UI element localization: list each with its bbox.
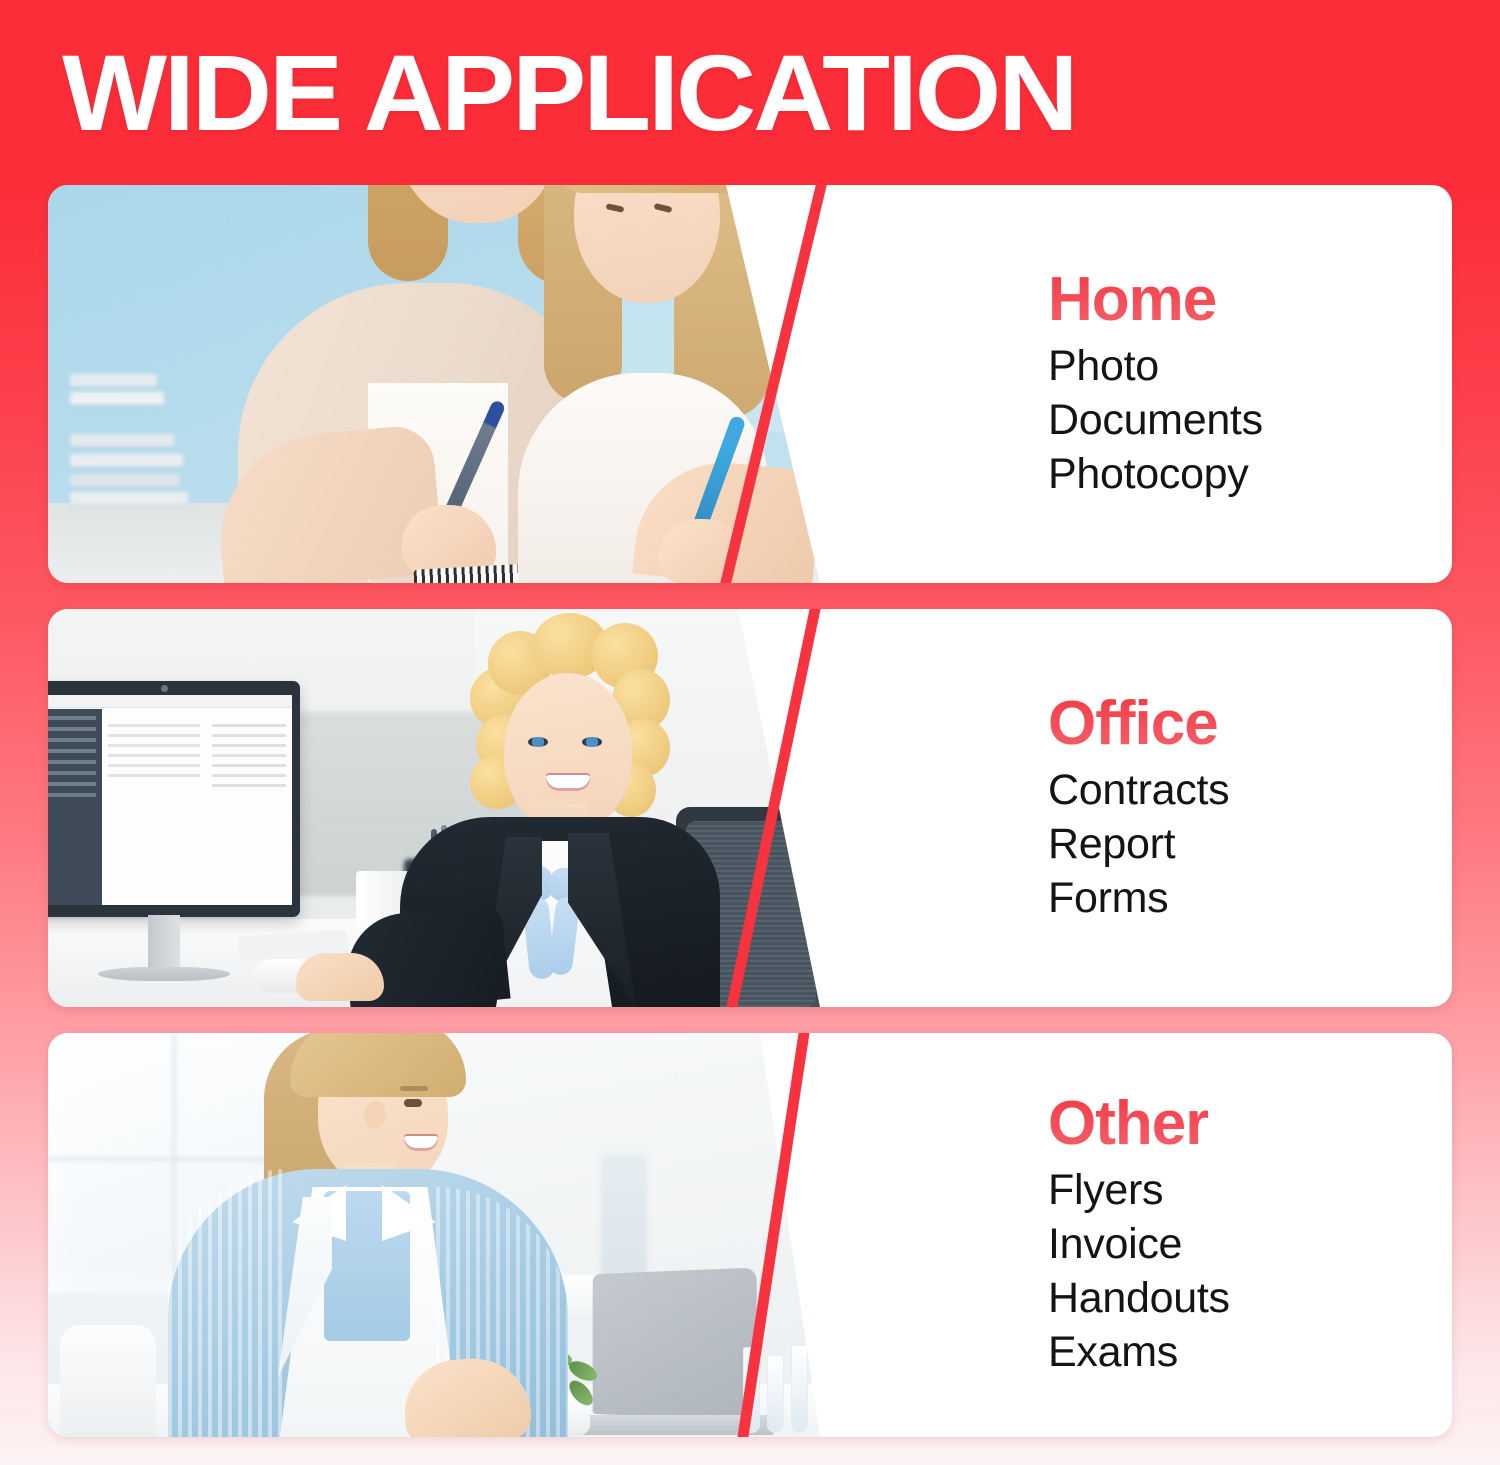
list-item: Contracts (1048, 764, 1452, 818)
page-title: WIDE APPLICATION (62, 39, 1075, 147)
card-title-office: Office (1048, 691, 1218, 757)
list-item: Forms (1048, 872, 1452, 926)
list-item: Report (1048, 818, 1452, 872)
list-item: Handouts (1048, 1272, 1452, 1326)
hand-on-mouse (296, 953, 384, 1001)
application-card-office[interactable]: Office Contracts Report Forms (48, 609, 1452, 1007)
list-item: Photo (1048, 340, 1452, 394)
webcam-icon (161, 685, 168, 692)
book-stack-icon (70, 365, 188, 505)
application-cards: Home Photo Documents Photocopy (0, 185, 1500, 1437)
figure-lab-woman (168, 1037, 598, 1437)
list-item: Invoice (1048, 1218, 1452, 1272)
monitor-icon (48, 681, 300, 917)
chair (60, 1325, 156, 1437)
list-item: Exams (1048, 1326, 1452, 1380)
feature-list-home: Photo Documents Photocopy (1048, 340, 1452, 501)
text-panel-office: Office Contracts Report Forms (848, 609, 1452, 1007)
list-item: Flyers (1048, 1164, 1452, 1218)
card-title-other: Other (1048, 1091, 1208, 1157)
card-title-home: Home (1048, 267, 1216, 333)
application-card-home[interactable]: Home Photo Documents Photocopy (48, 185, 1452, 583)
text-panel-other: Other Flyers Invoice Handouts Exams (848, 1033, 1452, 1437)
list-item: Documents (1048, 394, 1452, 448)
feature-list-other: Flyers Invoice Handouts Exams (1048, 1164, 1452, 1379)
list-item: Photocopy (1048, 448, 1452, 502)
monitor-screen (48, 695, 292, 905)
header: WIDE APPLICATION (0, 0, 1500, 185)
text-panel-home: Home Photo Documents Photocopy (848, 185, 1452, 583)
application-card-other[interactable]: Other Flyers Invoice Handouts Exams (48, 1033, 1452, 1437)
feature-list-office: Contracts Report Forms (1048, 764, 1452, 925)
lab-cabinet (601, 1154, 647, 1291)
